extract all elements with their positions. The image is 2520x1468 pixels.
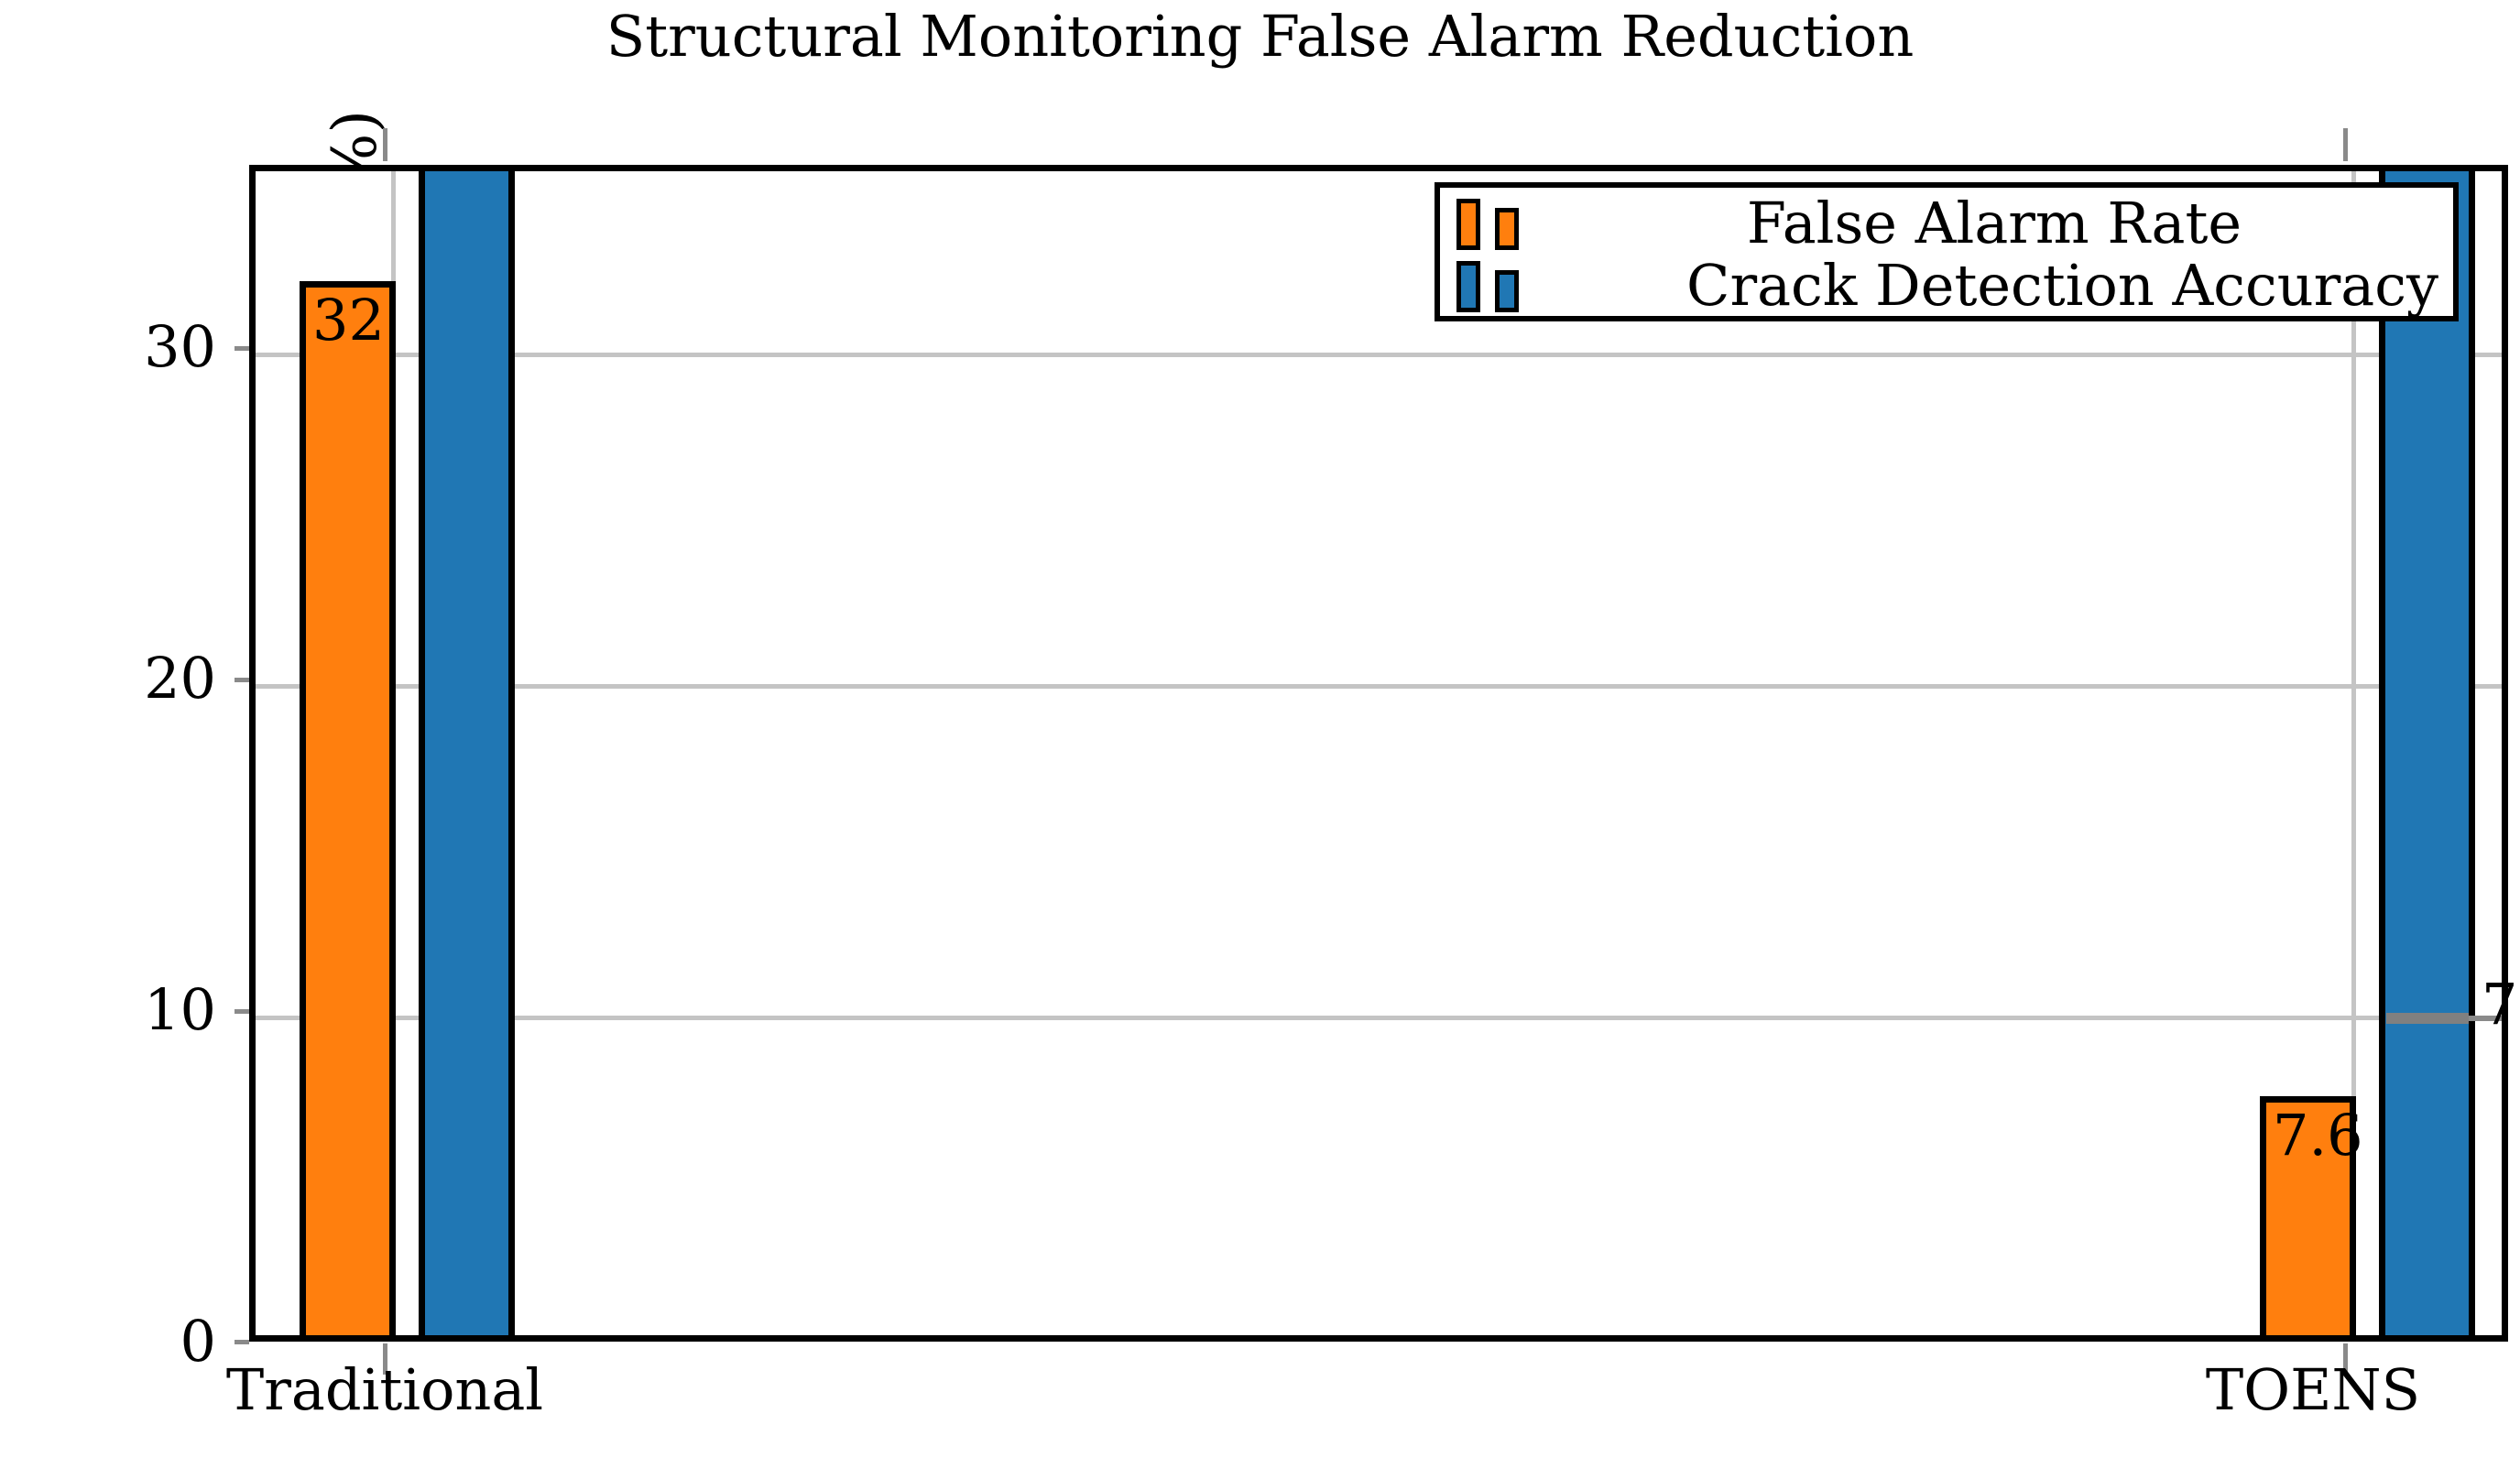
y-tick-label-30: 30: [79, 319, 216, 375]
legend-swatch-icon-false-alarm-rate-a: [1456, 199, 1480, 250]
chart-title: Structural Monitoring False Alarm Reduct…: [0, 4, 2520, 70]
bar-traditional-accuracy[interactable]: [419, 165, 515, 1342]
plot-area: 32 7.6: [249, 165, 2508, 1342]
legend-item-false-alarm-rate[interactable]: False Alarm Rate: [1440, 193, 2453, 254]
legend-swatch-group-crack-detection-accuracy: [1440, 256, 1548, 316]
legend-swatch-group-false-alarm-rate: [1440, 193, 1548, 254]
y-tick-label-10: 10: [79, 982, 216, 1038]
bar-toens-accuracy[interactable]: [2379, 165, 2475, 1342]
y-tick-mark-30: [235, 346, 249, 351]
chart-figure: Structural Monitoring False Alarm Reduct…: [0, 0, 2520, 1468]
y-tick-label-20: 20: [79, 650, 216, 707]
annotation-value-toens-accuracy: 7: [2482, 976, 2517, 1033]
y-tick-mark-0: [235, 1340, 249, 1344]
x-tick-label-traditional: Traditional: [110, 1357, 660, 1423]
x-tick-label-toens: TOENS: [2107, 1357, 2519, 1423]
gridline-y-10: [256, 1016, 2502, 1020]
legend-item-crack-detection-accuracy[interactable]: Crack Detection Accuracy: [1440, 256, 2453, 316]
annotation-line-toens-accuracy: [2386, 1013, 2469, 1024]
gridline-y-30: [256, 353, 2502, 357]
legend-swatch-icon-crack-detection-accuracy-a: [1456, 261, 1480, 312]
legend-swatch-icon-false-alarm-rate-b: [1495, 208, 1519, 250]
legend-swatch-icon-crack-detection-accuracy-b: [1495, 270, 1519, 312]
y-tick-mark-20: [235, 678, 249, 682]
x-tick-mark-top-traditional: [383, 128, 387, 161]
x-tick-mark-top-toens: [2343, 128, 2348, 161]
chart-legend: False Alarm Rate Crack Detection Accurac…: [1435, 182, 2459, 321]
gridline-y-20: [256, 684, 2502, 689]
bar-traditional-false-alarm[interactable]: [300, 281, 396, 1342]
legend-label-crack-detection-accuracy: Crack Detection Accuracy: [1548, 256, 2453, 316]
y-tick-mark-10: [235, 1009, 249, 1014]
legend-label-false-alarm-rate: False Alarm Rate: [1548, 193, 2453, 254]
